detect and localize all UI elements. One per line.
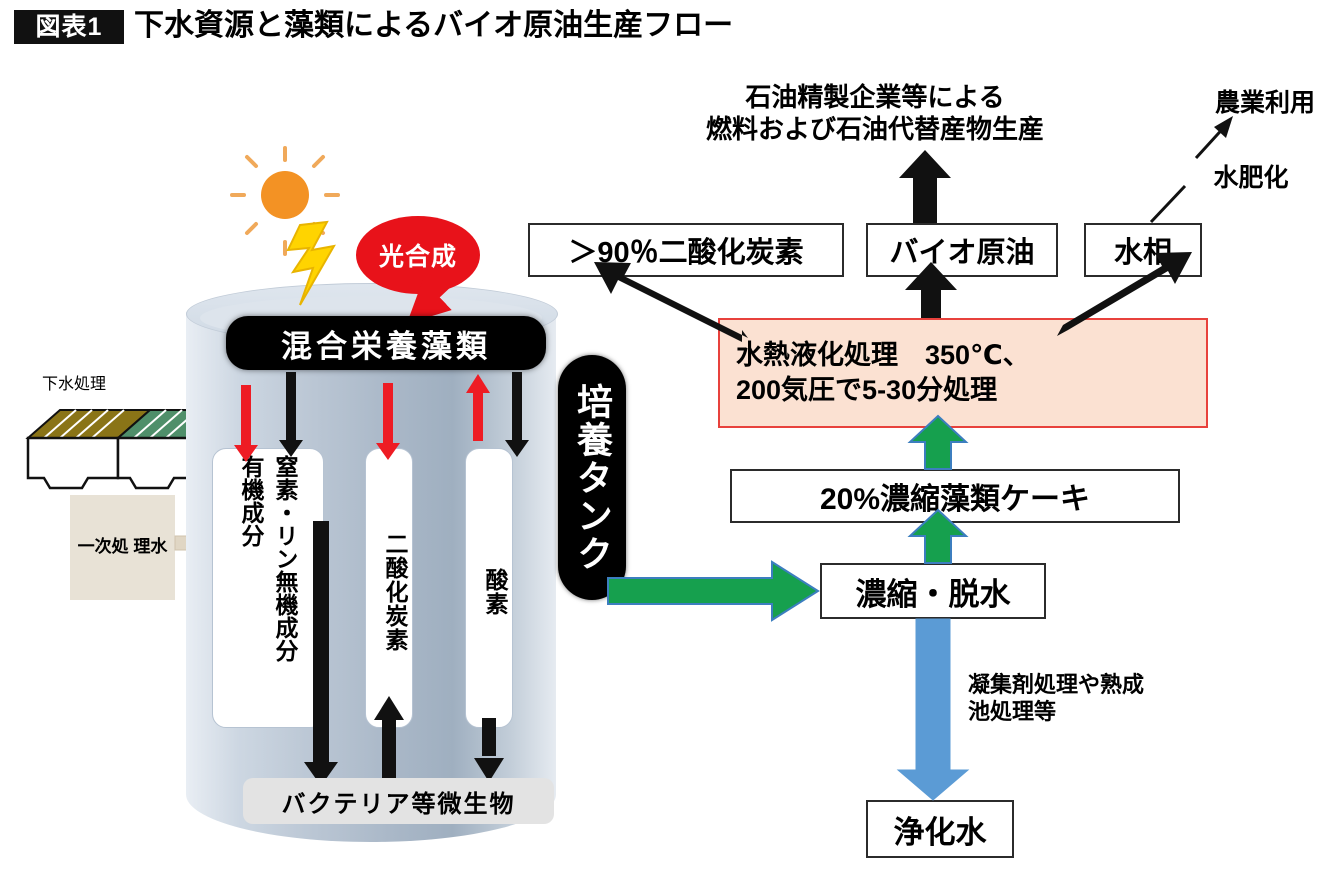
bacteria-microorganisms-label: バクテリア等微生物 [243,778,554,824]
htl-text: 水熱液化処理 350℃、 200気圧で5-30分処理 [736,338,1030,407]
figure-badge: 図表1 [14,10,124,44]
biocrude-box: バイオ原油 [866,223,1058,277]
hydrothermal-liquefaction-box: 水熱液化処理 350℃、 200気圧で5-30分処理 [718,318,1208,428]
photosynthesis-badge: 光合成 [356,216,480,294]
co2-output-box: ＞90％二酸化炭素 [528,223,844,277]
page-title: 下水資源と藻類によるバイオ原油生産フロー [134,8,733,44]
tank-label-organics: 有機成分 [234,455,268,547]
algae-cake-box: 20%濃縮藻類ケーキ [730,469,1180,523]
sewage-treatment-label: 下水処理 [42,370,106,394]
primary-treated-water-block: 一次処 理水 [70,495,175,600]
water-phase-box: 水相 [1084,223,1202,277]
cultivation-tank-label: 培養タンク [558,355,626,600]
sun-icon [261,171,309,219]
agriculture-usage-text: 農業利用 [1190,88,1340,119]
coagulant-treatment-text: 凝集剤処理や熟成 池処理等 [968,672,1238,726]
tank-label-nutrients: 窒素・リン無機成分 [268,455,302,662]
tank-column-oxygen: 酸素 [465,448,513,728]
diagram-canvas: 図表1 下水資源と藻類によるバイオ原油生産フロー 下水処理 一次処 理水 [0,0,1340,875]
concentrate-dewater-box: 濃縮・脱水 [820,563,1046,619]
clean-water-box: 浄化水 [866,800,1014,858]
tank-column-co2: 二酸化炭素 [365,448,413,728]
refinery-usage-text: 石油精製企業等による 燃料および石油代替産物生産 [655,82,1095,145]
mixotrophic-algae-label: 混合栄養藻類 [226,316,546,370]
fertilizer-text: 水肥化 [1186,163,1316,194]
tank-column-nutrients-organics: 窒素・リン無機成分 有機成分 [212,448,324,728]
